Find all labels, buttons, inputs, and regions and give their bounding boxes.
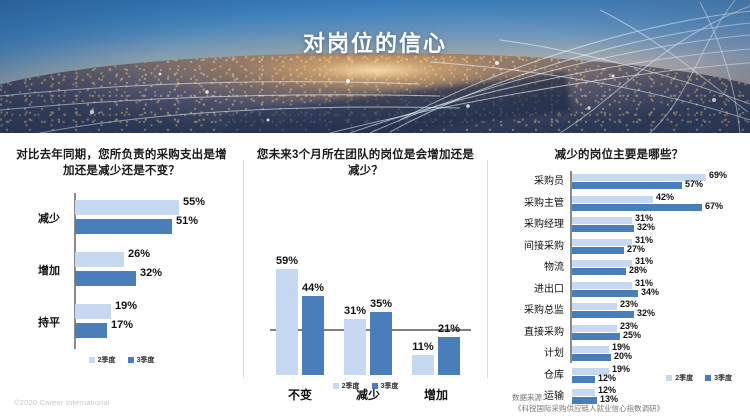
- chart-3-category-4: 物流: [488, 260, 564, 275]
- chart-3-row-9: 仓库 19% 12%: [488, 365, 750, 387]
- chart-1-bar-q3-2: [75, 323, 107, 338]
- chart-3-category-9: 仓库: [488, 368, 564, 383]
- chart-3-bar-q2-5: [572, 282, 632, 289]
- chart-3-value-q3-0: 57%: [685, 179, 703, 189]
- chart-3-value-q2-1: 42%: [656, 192, 674, 202]
- chart-3-category-5: 进出口: [488, 282, 564, 297]
- chart-1-legend-label-q2: 2季度: [98, 355, 116, 365]
- chart-3-bar-q3-7: [572, 333, 620, 340]
- chart-1-value-q2-0: 55%: [183, 196, 205, 208]
- chart-1-category-2: 持平: [0, 311, 60, 335]
- chart-2-category-2: 增加: [406, 386, 466, 403]
- panel-roles-reduced: 减少的岗位主要是哪些？ 采购员 69% 57% 采购主管 42% 67%: [488, 133, 750, 419]
- chart-1-category-1: 增加: [0, 259, 60, 283]
- chart-2-bar-q3-2: [438, 337, 460, 375]
- chart-2-category-1: 减少: [338, 386, 398, 403]
- chart-1: 减少 55% 51% 增加 26% 32% 持平 19%: [0, 193, 243, 349]
- chart-3-category-8: 计划: [488, 346, 564, 361]
- chart-2-bar-q2-0: [276, 269, 298, 375]
- chart-2-value-q2-0: 59%: [270, 255, 304, 267]
- banner-vignette: [0, 0, 750, 133]
- chart-3-bar-q2-1: [572, 196, 653, 203]
- chart-3-value-q3-8: 20%: [614, 351, 632, 361]
- chart-3-bar-q3-4: [572, 268, 626, 275]
- chart-1-title: 对比去年同期，您所负责的采购支出是增加还是减少还是不变？: [0, 133, 243, 179]
- chart-2-bar-q2-2: [412, 355, 434, 375]
- chart-1-value-q3-2: 17%: [111, 319, 133, 331]
- chart-2-bar-q3-1: [370, 312, 392, 375]
- panel-headcount-outlook: 您未来3个月所在团队的岗位是会增加还是减少？ 59% 44% 不变 31% 35…: [244, 133, 487, 419]
- chart-3-row-2: 采购经理 31% 32%: [488, 214, 750, 236]
- chart-3-category-2: 采购经理: [488, 217, 564, 232]
- chart-3-row-5: 进出口 31% 34%: [488, 279, 750, 301]
- chart-1-value-q3-0: 51%: [176, 215, 198, 227]
- chart-3-row-0: 采购员 69% 57%: [488, 171, 750, 193]
- chart-3-bar-q2-4: [572, 260, 632, 267]
- chart-1-category-0: 减少: [0, 207, 60, 231]
- chart-2-title: 您未来3个月所在团队的岗位是会增加还是减少？: [244, 133, 487, 179]
- chart-3-category-1: 采购主管: [488, 196, 564, 211]
- chart-3-category-6: 采购总监: [488, 303, 564, 318]
- legend-swatch-icon: [128, 357, 134, 363]
- chart-1-bar-q2-0: [75, 200, 179, 215]
- chart-3-row-8: 计划 19% 20%: [488, 343, 750, 365]
- chart-1-bar-q2-1: [75, 252, 124, 267]
- chart-1-group-0: 减少 55% 51%: [0, 193, 243, 245]
- data-source-name: 《科锐国际采购供应链人就业信心指数调研》: [512, 403, 742, 414]
- chart-1-legend-label-q3: 3季度: [137, 355, 155, 365]
- chart-2: 59% 44% 不变 31% 35% 减少 11% 21%: [244, 189, 487, 375]
- chart-3-bar-q3-1: [572, 204, 702, 211]
- charts-area: 对比去年同期，您所负责的采购支出是增加还是减少还是不变？ 减少 55% 51% …: [0, 133, 750, 419]
- chart-3-bar-q3-2: [572, 225, 634, 232]
- chart-1-legend: 2季度 3季度: [0, 355, 243, 365]
- chart-3-value-q3-3: 27%: [627, 244, 645, 254]
- chart-3-value-q2-6: 23%: [620, 299, 638, 309]
- chart-3: 采购员 69% 57% 采购主管 42% 67% 采购经理 31%: [488, 171, 750, 367]
- chart-3-value-q3-6: 32%: [637, 308, 655, 318]
- copyright-notice: ©2020 Career International: [14, 398, 110, 407]
- data-source-note: 数据来源： 《科锐国际采购供应链人就业信心指数调研》: [512, 392, 742, 414]
- chart-1-bar-q2-2: [75, 304, 111, 319]
- slide-root: 对岗位的信心 对比去年同期，您所负责的采购支出是增加还是减少还是不变？ 减少 5…: [0, 0, 750, 419]
- legend-swatch-icon: [89, 357, 95, 363]
- chart-1-value-q2-1: 26%: [128, 248, 150, 260]
- chart-3-value-q3-5: 34%: [641, 287, 659, 297]
- chart-1-value-q2-2: 19%: [115, 300, 137, 312]
- data-source-label: 数据来源：: [512, 392, 742, 403]
- chart-3-bar-q2-7: [572, 325, 617, 332]
- chart-3-bar-q2-8: [572, 346, 609, 353]
- chart-3-value-q2-0: 69%: [709, 170, 727, 180]
- chart-3-row-7: 直接采购 23% 25%: [488, 322, 750, 344]
- chart-3-category-0: 采购员: [488, 174, 564, 189]
- page-title: 对岗位的信心: [0, 26, 750, 58]
- chart-1-group-1: 增加 26% 32%: [0, 245, 243, 297]
- chart-3-value-q3-1: 67%: [705, 201, 723, 211]
- chart-1-legend-item-q2[interactable]: 2季度: [89, 355, 116, 365]
- chart-2-bar-q2-1: [344, 319, 366, 375]
- chart-2-value-q2-2: 11%: [406, 341, 440, 353]
- chart-3-bar-q3-0: [572, 182, 682, 189]
- banner-hero-image: 对岗位的信心: [0, 0, 750, 133]
- chart-3-value-q3-9: 12%: [598, 373, 616, 383]
- chart-3-bar-q3-5: [572, 290, 638, 297]
- chart-2-value-q3-1: 35%: [364, 298, 398, 310]
- chart-3-value-q3-7: 25%: [623, 330, 641, 340]
- chart-3-bar-q3-8: [572, 354, 611, 361]
- chart-1-group-2: 持平 19% 17%: [0, 297, 243, 349]
- chart-3-row-3: 间接采购 31% 27%: [488, 236, 750, 258]
- chart-3-row-4: 物流 31% 28%: [488, 257, 750, 279]
- chart-2-value-q3-2: 21%: [432, 323, 466, 335]
- chart-1-legend-item-q3[interactable]: 3季度: [128, 355, 155, 365]
- chart-2-category-0: 不变: [270, 386, 330, 403]
- panel-purchasing-spend: 对比去年同期，您所负责的采购支出是增加还是减少还是不变？ 减少 55% 51% …: [0, 133, 243, 419]
- chart-3-bar-q3-3: [572, 247, 624, 254]
- chart-3-row-1: 采购主管 42% 67%: [488, 193, 750, 215]
- chart-3-bar-q3-6: [572, 311, 634, 318]
- chart-1-value-q3-1: 32%: [140, 267, 162, 279]
- chart-3-category-3: 间接采购: [488, 239, 564, 254]
- chart-1-bar-q3-0: [75, 219, 172, 234]
- chart-3-category-7: 直接采购: [488, 325, 564, 340]
- chart-1-bar-q3-1: [75, 271, 136, 286]
- chart-3-bar-q2-2: [572, 217, 632, 224]
- chart-3-title: 减少的岗位主要是哪些？: [488, 133, 750, 163]
- chart-3-bar-q2-6: [572, 303, 617, 310]
- chart-3-bar-q2-3: [572, 239, 632, 246]
- chart-2-value-q3-0: 44%: [296, 282, 330, 294]
- chart-3-value-q3-4: 28%: [629, 265, 647, 275]
- chart-3-bar-q3-9: [572, 376, 595, 383]
- chart-2-bar-q3-0: [302, 296, 324, 375]
- chart-3-row-6: 采购总监 23% 32%: [488, 300, 750, 322]
- chart-3-value-q3-2: 32%: [637, 222, 655, 232]
